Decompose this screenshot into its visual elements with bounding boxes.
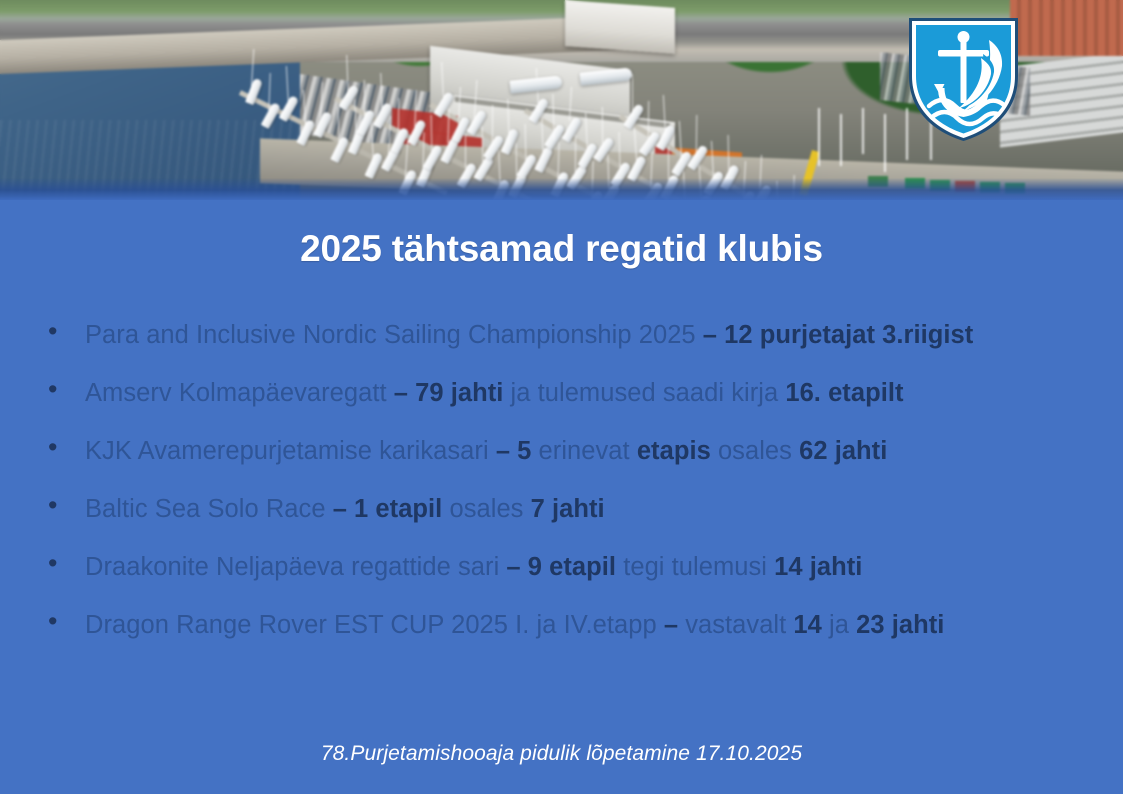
kjk-shield-logo <box>907 14 1020 141</box>
page-title: 2025 tähtsamad regatid klubis <box>0 228 1123 270</box>
bullet-dot-icon: • <box>40 486 85 524</box>
presentation-slide: 2025 tähtsamad regatid klubis •Para and … <box>0 0 1123 794</box>
list-item: •Dragon Range Rover EST CUP 2025 I. ja I… <box>40 602 1085 648</box>
photo-bottom-fade <box>0 178 1123 200</box>
bullet-dot-icon: • <box>40 312 85 350</box>
list-item-label: KJK Avamerepurjetamise karikasari – 5 er… <box>85 428 1085 474</box>
footer-event-note: 78.Purjetamishooaja pidulik lõpetamine 1… <box>0 742 1123 766</box>
bullet-dot-icon: • <box>40 428 85 466</box>
bullet-dot-icon: • <box>40 602 85 640</box>
list-item-label: Dragon Range Rover EST CUP 2025 I. ja IV… <box>85 602 1085 648</box>
list-item-label: Amserv Kolmapäevaregatt – 79 jahti ja tu… <box>85 370 1085 416</box>
list-item-label: Draakonite Neljapäeva regattide sari – 9… <box>85 544 1085 590</box>
list-item: •KJK Avamerepurjetamise karikasari – 5 e… <box>40 428 1085 474</box>
list-item-label: Baltic Sea Solo Race – 1 etapil osales 7… <box>85 486 1085 532</box>
bullet-dot-icon: • <box>40 370 85 408</box>
list-item: •Para and Inclusive Nordic Sailing Champ… <box>40 312 1085 358</box>
list-item-label: Para and Inclusive Nordic Sailing Champi… <box>85 312 1085 358</box>
list-item: •Draakonite Neljapäeva regattide sari – … <box>40 544 1085 590</box>
list-item: •Amserv Kolmapäevaregatt – 79 jahti ja t… <box>40 370 1085 416</box>
bullet-dot-icon: • <box>40 544 85 582</box>
list-item: •Baltic Sea Solo Race – 1 etapil osales … <box>40 486 1085 532</box>
regatta-summary-list: •Para and Inclusive Nordic Sailing Champ… <box>40 312 1085 660</box>
